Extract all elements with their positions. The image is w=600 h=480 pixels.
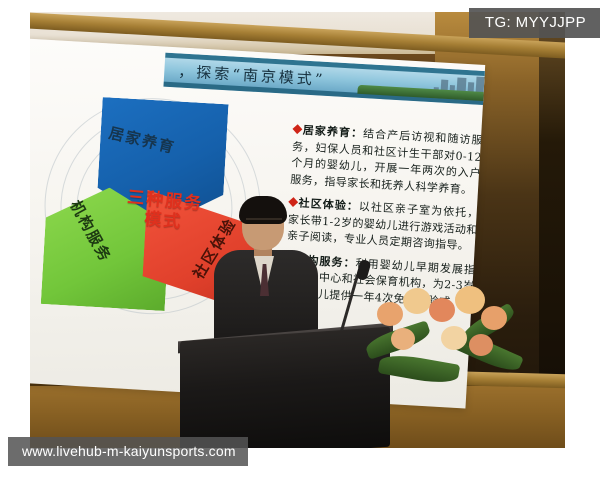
conference-photograph: ，探索“南京模式” 居家养育 <box>30 12 565 448</box>
podium <box>180 327 390 448</box>
floral-arrangement <box>363 272 523 404</box>
bullet-item: 居家养育：结合产后访视和随访服务，妇保人员和社区计生干部对0-12个月的婴幼儿，… <box>290 122 483 199</box>
bullet-term: 居家养育： <box>302 124 364 140</box>
site-url-watermark: www.livehub-m-kaiyunsports.com <box>8 437 248 466</box>
flower-bloom <box>481 306 507 330</box>
screenshot-canvas: ，探索“南京模式” 居家养育 <box>0 0 600 480</box>
flower-bloom <box>469 334 493 356</box>
flower-bloom <box>403 288 431 314</box>
flower-bloom <box>455 286 485 314</box>
foliage <box>378 351 461 387</box>
flower-bloom <box>391 328 415 350</box>
flower-bloom <box>377 302 403 326</box>
diamond-bullet-icon <box>292 124 302 134</box>
flower-bloom <box>441 326 467 350</box>
flower-bloom <box>429 298 455 322</box>
telegram-watermark-badge: TG: MYYJJPP <box>469 8 600 38</box>
speaker-glasses <box>246 218 282 229</box>
